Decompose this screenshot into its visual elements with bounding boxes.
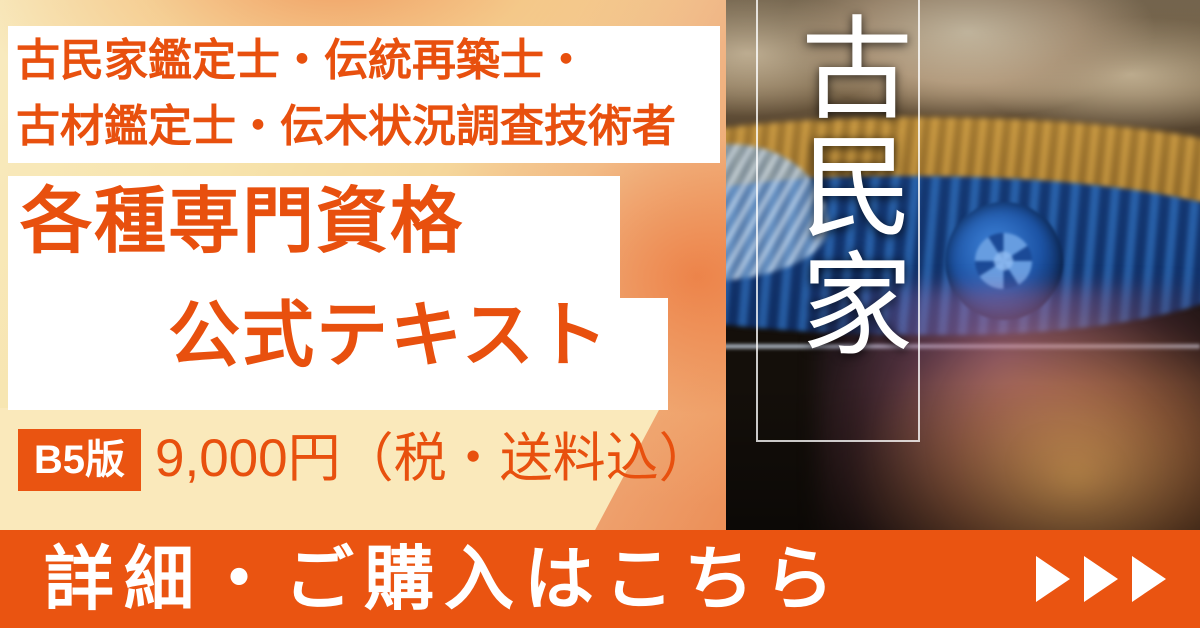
cta-label: 詳細・ご購入はこちら — [44, 544, 844, 614]
price-text: 9,000円（税・送料込） — [155, 432, 712, 485]
headline: 古民家鑑定士・伝統再築士・ 古材鑑定士・伝木状況調査技術者 — [16, 28, 716, 160]
chevron-right-icon — [1036, 556, 1070, 602]
chevron-right-icon — [1132, 556, 1166, 602]
subhead-line-1: 各種専門資格 — [20, 186, 464, 258]
chevron-right-icon — [1084, 556, 1118, 602]
cover-title: 古民家 — [766, 10, 912, 364]
format-badge-label: B5版 — [34, 440, 125, 480]
headline-line-1: 古民家鑑定士・伝統再築士・ — [16, 28, 716, 94]
headline-line-2: 古材鑑定士・伝木状況調査技術者 — [16, 94, 716, 160]
promo-banner: 古民家 伝統構法、古民家活用のための調査と再生の 古民家鑑定士・伝統再築士・ 古… — [0, 0, 1200, 628]
cta-bar[interactable]: 詳細・ご購入はこちら — [0, 530, 1200, 628]
cta-arrows — [1036, 556, 1166, 602]
format-badge: B5版 — [18, 429, 141, 491]
subhead-line-2: 公式テキスト — [168, 300, 610, 372]
